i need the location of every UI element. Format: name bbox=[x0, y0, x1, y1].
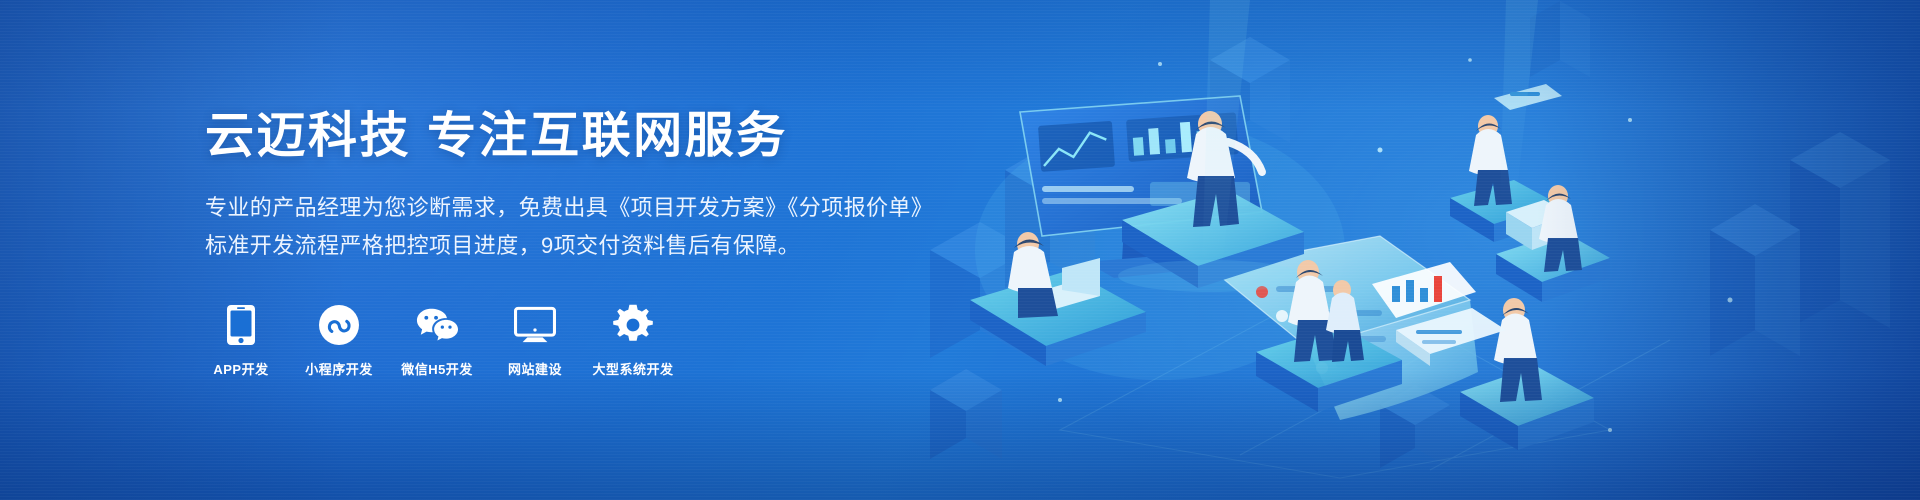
gear-icon bbox=[612, 304, 654, 346]
subtitle-line-2: 标准开发流程严格把控项目进度，9项交付资料售后有保障。 bbox=[205, 228, 965, 264]
service-label-miniprogram: 小程序开发 bbox=[305, 359, 373, 378]
banner-content: 云迈科技 专注互联网服务 专业的产品经理为您诊断需求，免费出具《项目开发方案》《… bbox=[205, 0, 965, 500]
mini-program-icon bbox=[318, 304, 360, 346]
service-item-miniprogram[interactable]: 小程序开发 bbox=[303, 304, 375, 378]
service-label-website: 网站建设 bbox=[508, 359, 562, 378]
service-item-app[interactable]: APP开发 bbox=[205, 304, 277, 378]
monitor-icon bbox=[514, 304, 556, 346]
page-title: 云迈科技 专注互联网服务 bbox=[205, 110, 965, 163]
mobile-phone-icon bbox=[220, 304, 262, 346]
service-label-large-system: 大型系统开发 bbox=[593, 359, 674, 378]
service-label-app: APP开发 bbox=[213, 359, 268, 378]
subtitle-line-1: 专业的产品经理为您诊断需求，免费出具《项目开发方案》《分项报价单》 bbox=[205, 190, 965, 226]
service-item-large-system[interactable]: 大型系统开发 bbox=[597, 304, 669, 378]
service-label-wechat-h5: 微信H5开发 bbox=[401, 359, 473, 378]
service-item-wechat-h5[interactable]: 微信H5开发 bbox=[401, 304, 473, 378]
service-item-website[interactable]: 网站建设 bbox=[499, 304, 571, 378]
wechat-icon bbox=[416, 304, 458, 346]
hero-banner: 云迈科技 专注互联网服务 专业的产品经理为您诊断需求，免费出具《项目开发方案》《… bbox=[0, 0, 1920, 500]
service-icon-row: APP开发 小程序开发 bbox=[205, 304, 965, 378]
isometric-tech-team-illustration bbox=[910, 0, 1920, 500]
